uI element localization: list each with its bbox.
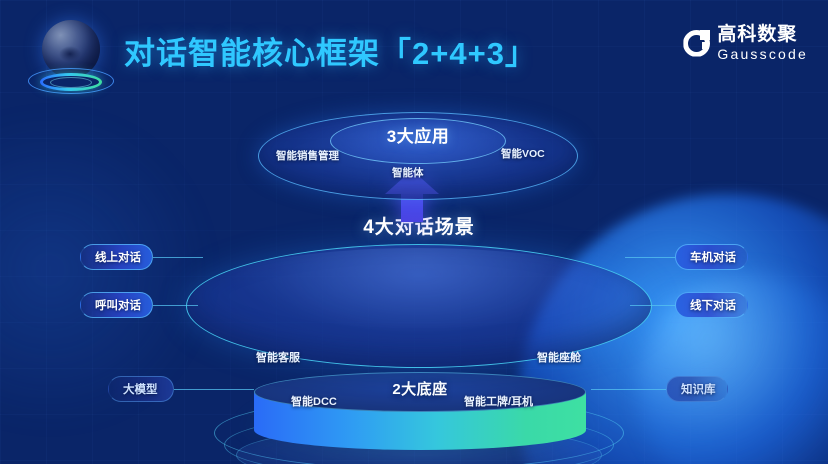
scene-item-smart-service: 智能客服 [256,349,300,365]
scene-item-smart-cockpit: 智能座舱 [537,349,581,365]
framework-diagram: 2大底座 4大对话场景 智能客服 智能座舱 智能DCC 智能工牌/耳机 3大应用… [0,96,828,464]
brand-logo-text: 高科数聚 Gausscode [717,25,808,61]
pill-large-model[interactable]: 大模型 [108,376,174,402]
leader-line-car-dialog [625,257,675,258]
app-item-sales-management: 智能销售管理 [276,148,339,163]
pill-offline-dialog[interactable]: 线下对话 [675,292,748,318]
brand-name-cn: 高科数聚 [717,25,808,44]
sphere-orb-icon [22,16,116,104]
leader-line-offline-dialog [630,305,675,306]
pill-call-dialog[interactable]: 呼叫对话 [80,292,153,318]
leader-line-knowledge-base [591,389,666,390]
slide-header: 对话智能核心框架「2+4+3」 高科数聚 Gausscode [0,0,828,100]
brand-logo: 高科数聚 Gausscode [683,18,808,68]
orb-ring-inner-icon [50,77,92,88]
app-item-voc: 智能VOC [501,146,545,161]
leader-line-online-dialog [153,257,203,258]
gausscode-mark-icon [683,30,710,57]
scene-item-smart-dcc: 智能DCC [291,393,337,409]
top-layer-title: 3大应用 [258,122,578,147]
pill-knowledge-base[interactable]: 知识库 [666,376,728,402]
brand-name-en: Gausscode [717,47,808,61]
leader-line-call-dialog [153,305,198,306]
scene-item-smart-badge: 智能工牌/耳机 [464,393,533,409]
leader-line-large-model [174,389,254,390]
pill-online-dialog[interactable]: 线上对话 [80,244,153,270]
pill-car-dialog[interactable]: 车机对话 [675,244,748,270]
page-title: 对话智能核心框架「2+4+3」 [124,28,537,73]
app-item-agent: 智能体 [392,165,424,180]
middle-layer-highlight [196,248,642,344]
slide-canvas: 对话智能核心框架「2+4+3」 高科数聚 Gausscode 2大底座 [0,0,828,464]
